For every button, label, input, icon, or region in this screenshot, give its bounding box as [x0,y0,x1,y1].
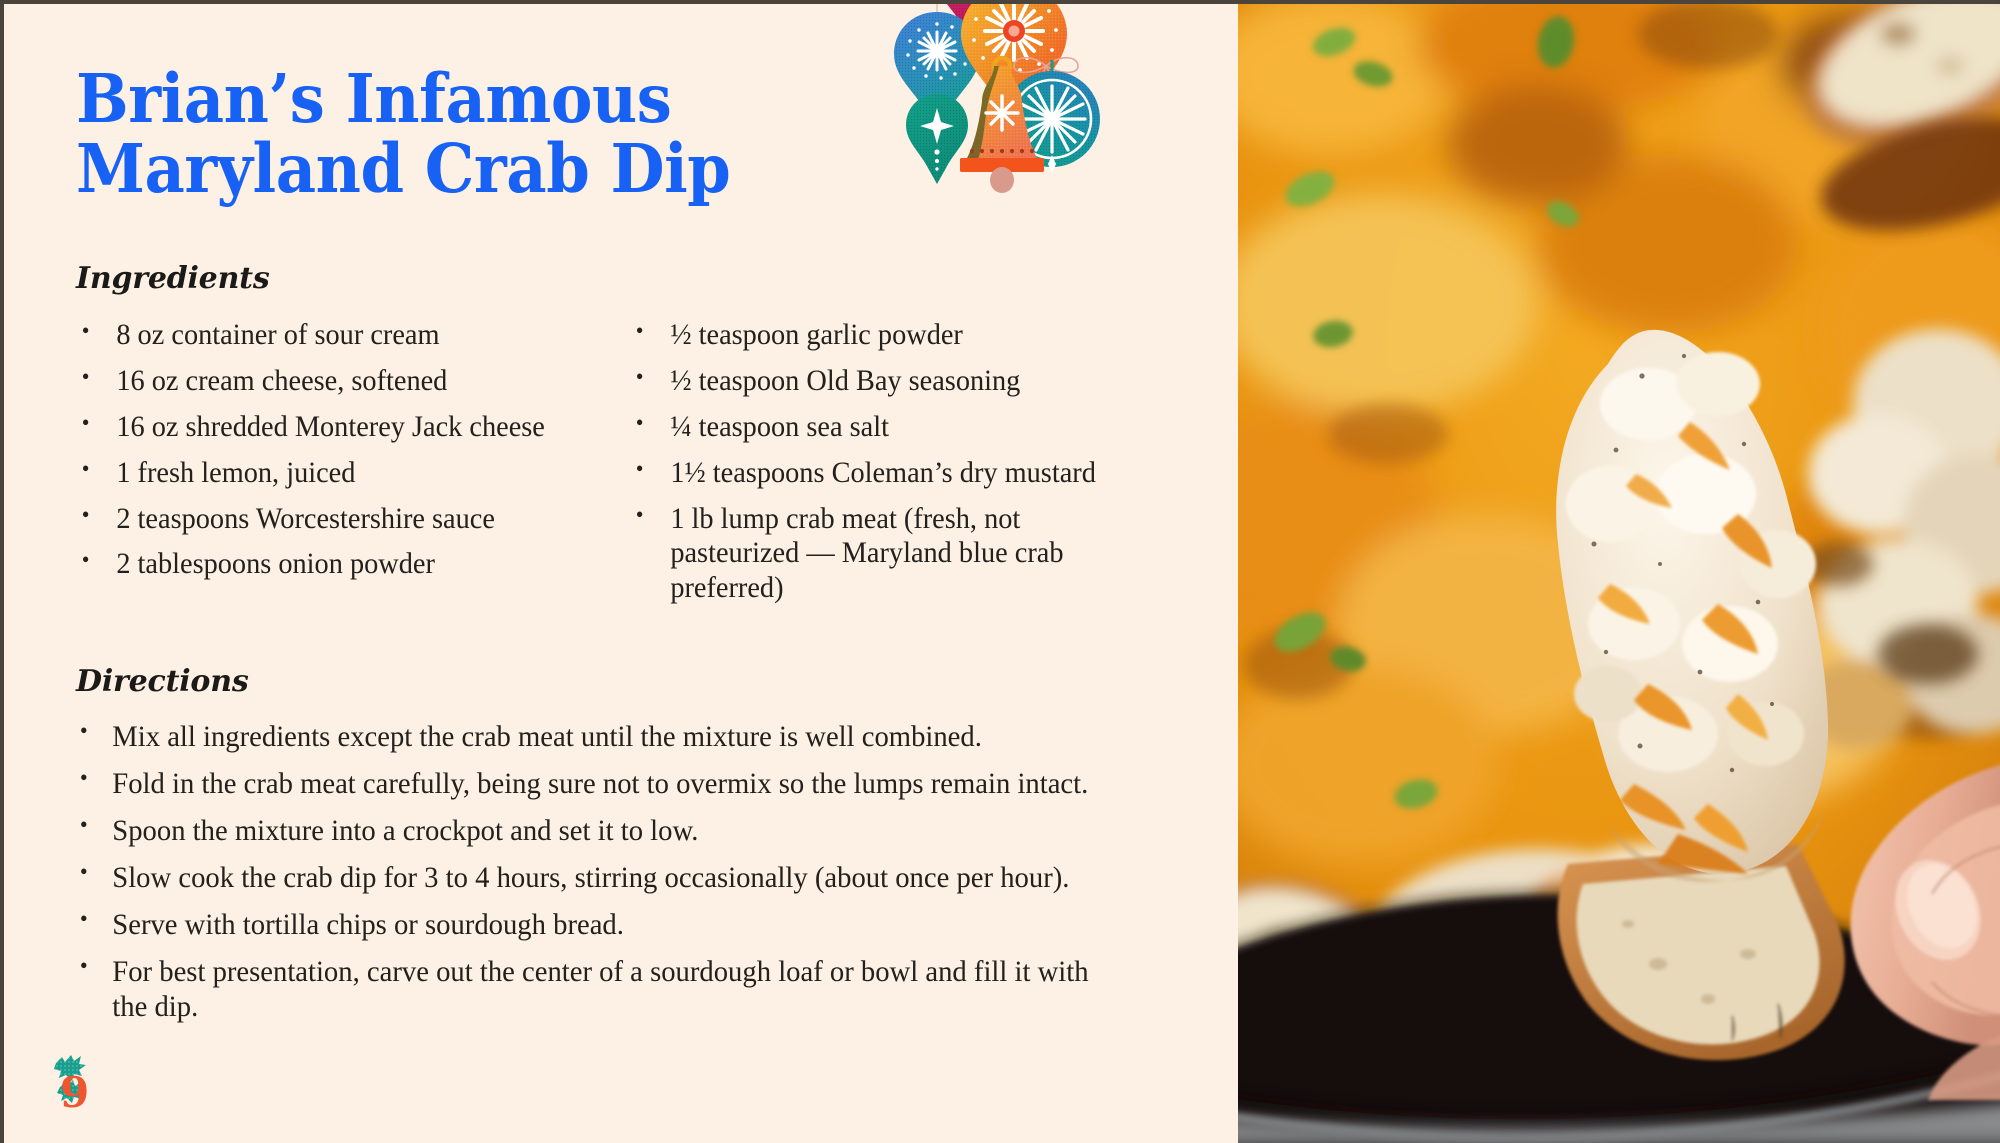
direction-step: For best presentation, carve out the cen… [76,954,1119,1024]
recipe-text-pane: Brian’s Infamous Maryland Crab Dip Ingre… [4,4,1238,1143]
title-line-1: Brian’s Infamous [76,59,671,138]
ingredients-column-left: 8 oz container of sour cream16 oz cream … [76,318,614,617]
directions-list: Mix all ingredients except the crab meat… [76,719,1168,1025]
ingredient-item: 1½ teaspoons Coleman’s dry mustard [630,456,1146,491]
crab-dip-photo [1238,4,2000,1143]
ingredients-list-left: 8 oz container of sour cream16 oz cream … [76,318,614,582]
page-number: 9 [60,1068,89,1117]
ingredients-list-right: ½ teaspoon garlic powder½ teaspoon Old B… [630,318,1168,606]
direction-step: Serve with tortilla chips or sourdough b… [76,907,1119,942]
ingredient-item: ¼ teaspoon sea salt [630,410,1146,445]
ingredient-item: 1 fresh lemon, juiced [76,456,592,491]
ingredient-item: 16 oz shredded Monterey Jack cheese [76,410,592,445]
ingredient-item: 2 tablespoons onion powder [76,547,592,582]
ingredients-column-right: ½ teaspoon garlic powder½ teaspoon Old B… [614,318,1168,617]
ingredients-columns: 8 oz container of sour cream16 oz cream … [76,318,1168,617]
direction-step: Spoon the mixture into a crockpot and se… [76,813,1119,848]
direction-step: Mix all ingredients except the crab meat… [76,719,1119,754]
page-title: Brian’s Infamous Maryland Crab Dip [76,64,811,203]
ingredient-item: ½ teaspoon Old Bay seasoning [630,364,1146,399]
directions-heading: Directions [76,664,1168,699]
ingredient-item: ½ teaspoon garlic powder [630,318,1146,353]
direction-step: Slow cook the crab dip for 3 to 4 hours,… [76,860,1119,895]
ingredient-item: 1 lb lump crab meat (fresh, not pasteuri… [630,502,1146,606]
title-line-2: Maryland Crab Dip [76,129,730,208]
ingredients-heading: Ingredients [76,261,1168,296]
direction-step: Fold in the crab meat carefully, being s… [76,766,1119,801]
recipe-card-page: Brian’s Infamous Maryland Crab Dip Ingre… [0,0,2000,1143]
ingredient-item: 16 oz cream cheese, softened [76,364,592,399]
ingredient-item: 2 teaspoons Worcestershire sauce [76,502,592,537]
ingredient-item: 8 oz container of sour cream [76,318,592,353]
